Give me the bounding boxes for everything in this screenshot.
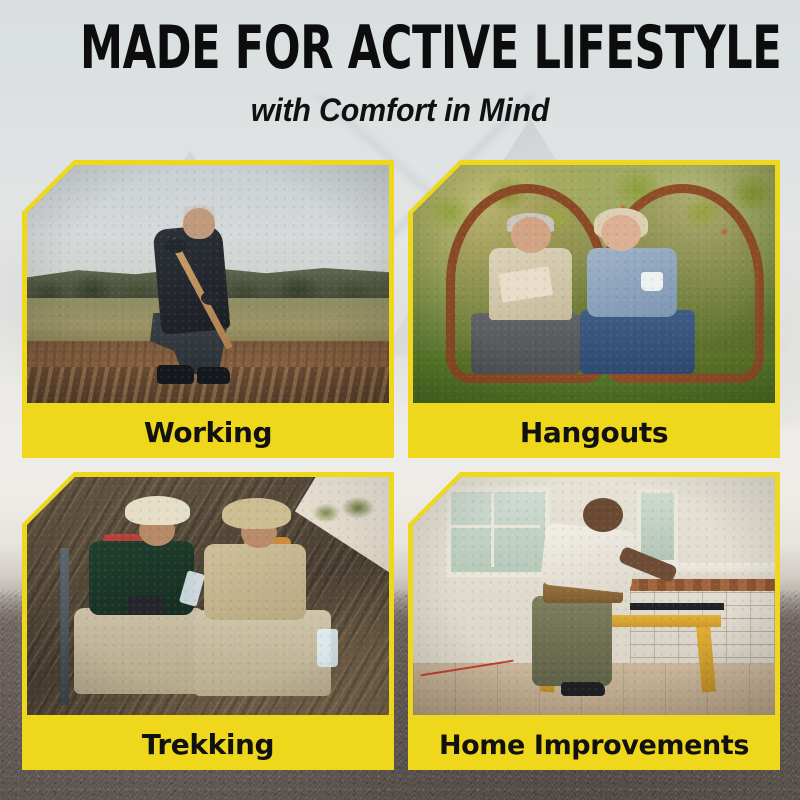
card-row-bottom: Trekking	[22, 472, 780, 770]
feature-card-trekking[interactable]: Trekking	[22, 472, 394, 770]
hiker1-legs	[74, 608, 204, 694]
figure-glove-lower	[201, 291, 221, 305]
figure-boot-left	[157, 365, 193, 384]
feature-card-hangouts[interactable]: Hangouts	[408, 160, 780, 458]
card-photo-hangouts	[413, 165, 775, 403]
card-label-text: Working	[144, 419, 272, 447]
feature-card-working[interactable]: Working	[22, 160, 394, 458]
scene-couple-wicker-chairs-garden	[413, 165, 775, 403]
card-row-top: Working	[22, 160, 780, 458]
worker-pants	[532, 596, 612, 686]
card-label-text: Hangouts	[520, 419, 668, 447]
card-photo-home-improvements	[413, 477, 775, 715]
water-bottle-right	[317, 629, 339, 667]
hiker1-camera	[128, 596, 164, 615]
worker-shoe	[561, 682, 604, 696]
scene-dry-brush	[302, 487, 382, 539]
card-photo-trekking	[27, 477, 389, 715]
feature-card-grid: Working	[22, 160, 780, 784]
figure-glove-upper	[165, 239, 187, 253]
card-label-bar: Working	[22, 408, 394, 458]
feature-card-home-improvements[interactable]: Home Improvements	[408, 472, 780, 770]
headline-block: MADE FOR ACTIVE LIFESTYLE with Comfort i…	[0, 18, 800, 129]
scene-two-hikers-rocky-slope	[27, 477, 389, 715]
card-photo-working	[27, 165, 389, 403]
page-subtitle: with Comfort in Mind	[20, 92, 780, 129]
card-frame	[22, 160, 394, 408]
scene-brick-trim	[630, 579, 775, 591]
scene-window-right	[637, 489, 678, 564]
worker-head	[583, 498, 623, 531]
scene-man-digging-field	[27, 165, 389, 403]
figure-boot-right	[197, 367, 230, 384]
scene-window-mullion-v	[491, 487, 494, 568]
page-title: MADE FOR ACTIVE LIFESTYLE	[80, 18, 720, 78]
card-label-bar: Home Improvements	[408, 720, 780, 770]
hiker2-bucket-hat	[222, 498, 291, 529]
man-head	[511, 217, 551, 253]
card-label-bar: Trekking	[22, 720, 394, 770]
scene-window-left	[446, 487, 550, 578]
scene-man-workbench-fireplace	[413, 477, 775, 715]
card-frame	[22, 472, 394, 720]
poster-canvas: MADE FOR ACTIVE LIFESTYLE with Comfort i…	[0, 0, 800, 800]
card-frame	[408, 160, 780, 408]
woman-head	[601, 215, 641, 251]
figure-head	[183, 208, 216, 239]
woman-legs	[580, 310, 696, 374]
trekking-pole	[60, 548, 69, 705]
woman-torso	[587, 248, 678, 317]
card-label-text: Home Improvements	[439, 732, 749, 759]
level-tool	[630, 603, 724, 610]
card-frame	[408, 472, 780, 720]
man-legs	[471, 313, 580, 375]
mug-prop	[641, 272, 663, 291]
hiker2-torso	[204, 544, 305, 620]
hiker2-legs	[194, 610, 332, 696]
hiker1-bucket-hat	[125, 496, 190, 525]
card-label-text: Trekking	[142, 731, 274, 759]
card-label-bar: Hangouts	[408, 408, 780, 458]
